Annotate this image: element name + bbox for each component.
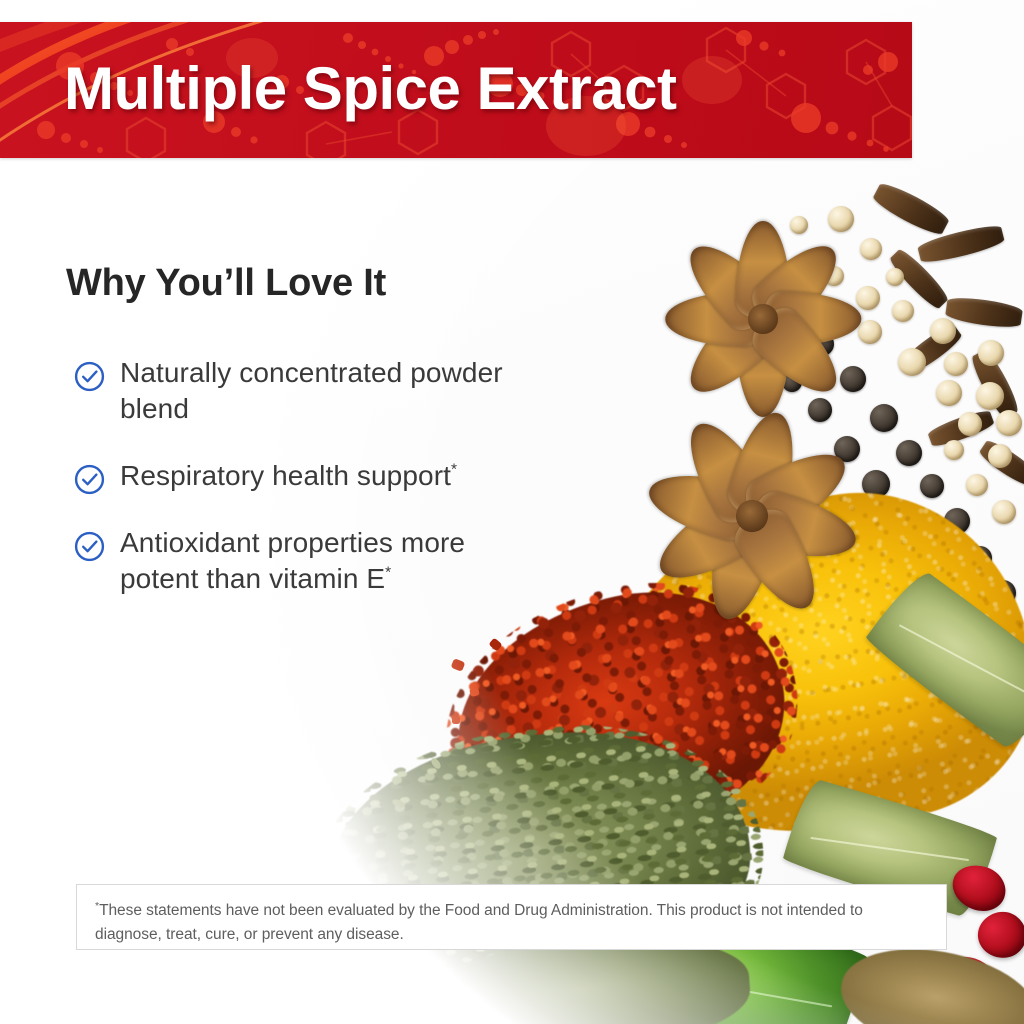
black-peppercorn [944, 508, 970, 534]
herb-flake [430, 757, 443, 771]
coriander-seed [856, 286, 880, 310]
benefit-item: Respiratory health support* [0, 458, 660, 495]
black-peppercorn [896, 440, 922, 466]
black-peppercorn [834, 436, 860, 462]
check-circle-icon [74, 464, 105, 495]
coriander-seed [978, 340, 1004, 366]
coriander-seed [858, 320, 882, 344]
dried-red-chili [974, 908, 1024, 963]
benefits-list: Naturally concentrated powder blend Resp… [0, 305, 660, 598]
black-peppercorn [862, 470, 890, 498]
chili-flake [469, 687, 480, 697]
coriander-seed [930, 318, 956, 344]
footnote-marker: * [385, 565, 391, 582]
check-circle-icon [74, 531, 105, 562]
black-peppercorn [808, 398, 832, 422]
chili-flake [451, 658, 466, 672]
check-circle-icon [74, 361, 105, 392]
coriander-seed [828, 206, 854, 232]
coriander-seed [944, 440, 964, 460]
chili-flake [488, 638, 502, 652]
main-content: Why You’ll Love It Naturally concentrate… [0, 158, 660, 628]
black-peppercorn [920, 474, 944, 498]
benefit-label: Antioxidant properties more potent than … [120, 525, 550, 598]
clove-stick [916, 222, 1005, 266]
page-title: Multiple Spice Extract [64, 54, 677, 123]
star-anise [672, 228, 854, 410]
clove-stick [945, 295, 1024, 330]
benefit-label: Naturally concentrated powder blend [120, 355, 550, 428]
herb-flake [375, 824, 387, 833]
header-banner: Multiple Spice Extract [0, 22, 912, 158]
black-peppercorn [782, 372, 802, 392]
star-anise [633, 397, 871, 635]
clove-stick [926, 407, 995, 449]
clove-stick [968, 347, 1022, 420]
clove-stick [870, 179, 951, 239]
black-peppercorn [888, 504, 914, 530]
black-peppercorn [848, 534, 870, 556]
coriander-seed [860, 238, 882, 260]
dried-herbs [318, 714, 762, 1007]
black-peppercorn [968, 546, 992, 570]
coriander-seed [958, 412, 982, 436]
dried-red-chili [937, 949, 1002, 1010]
black-peppercorn [806, 468, 828, 490]
coriander-seed [966, 474, 988, 496]
disclaimer-text: *These statements have not been evaluate… [95, 899, 928, 947]
chili-flake [452, 716, 460, 724]
coriander-seed [996, 410, 1022, 436]
clove-stick [977, 437, 1024, 489]
black-peppercorn [1000, 616, 1024, 640]
coriander-seed [976, 382, 1004, 410]
black-peppercorn [912, 538, 940, 566]
coriander-seed [944, 352, 968, 376]
coriander-seed [898, 348, 926, 376]
benefit-label: Respiratory health support* [120, 458, 457, 494]
black-peppercorn [870, 404, 898, 432]
black-peppercorn [990, 580, 1016, 606]
black-peppercorn [840, 366, 866, 392]
dried-herb-texture [305, 705, 775, 1015]
bay-leaf [862, 565, 1024, 754]
product-infographic: Multiple Spice Extract Why You’ll Love I… [0, 0, 1024, 1024]
black-peppercorn [958, 606, 982, 630]
coriander-seed [824, 266, 844, 286]
benefit-item: Antioxidant properties more potent than … [0, 525, 660, 598]
footnote-marker: * [451, 461, 457, 478]
herb-flake [391, 798, 406, 810]
coriander-seed [988, 444, 1012, 468]
black-peppercorn [810, 332, 834, 356]
dried-red-chili [947, 859, 1012, 918]
clove-stick [887, 246, 951, 312]
coriander-seed [936, 380, 962, 406]
coriander-seed [992, 500, 1016, 524]
benefit-item: Naturally concentrated powder blend [0, 355, 660, 428]
coriander-seed [892, 300, 914, 322]
coriander-seed [886, 268, 904, 286]
black-peppercorn [936, 572, 962, 598]
clove-stick [900, 321, 965, 376]
coriander-seed [790, 216, 808, 234]
basil-leaf [794, 1009, 1024, 1024]
section-heading: Why You’ll Love It [0, 158, 660, 305]
fda-disclaimer-box: *These statements have not been evaluate… [76, 884, 947, 950]
coriander-seed [800, 250, 816, 266]
